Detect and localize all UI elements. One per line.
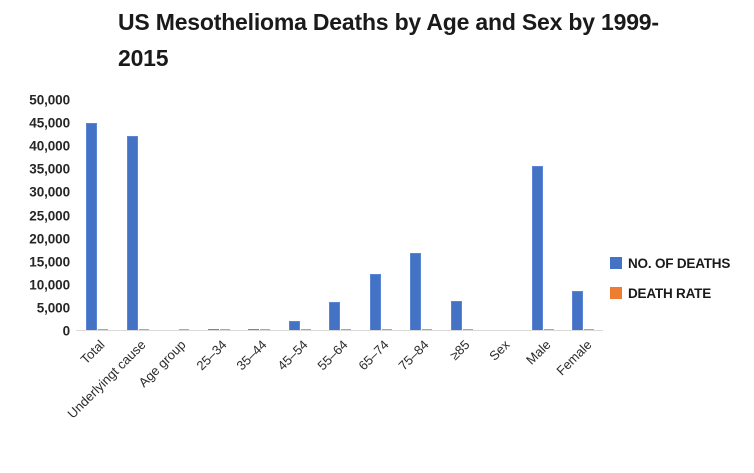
bar-group (117, 100, 158, 331)
x-axis-tick-text: 55–64 (315, 337, 351, 373)
bar-group (481, 100, 522, 331)
x-axis-labels: TotalUnderlyingt causeAge group25–3435–4… (76, 331, 603, 473)
y-axis-tick-label: 10,000 (0, 277, 70, 292)
bar-group (279, 100, 320, 331)
legend-item-label: NO. OF DEATHS (628, 256, 730, 271)
bar-no-of-deaths[interactable] (127, 136, 138, 331)
x-axis-tick-text: 45–54 (274, 337, 310, 373)
chart-container: US Mesothelioma Deaths by Age and Sex by… (0, 0, 754, 473)
y-axis-tick-label: 40,000 (0, 139, 70, 154)
x-axis-tick-label: Male (523, 337, 554, 368)
x-axis-tick-label: 65–74 (355, 337, 391, 373)
y-axis-tick-label: 25,000 (0, 208, 70, 223)
x-axis-tick-label: 35–44 (234, 337, 270, 373)
bar-no-of-deaths[interactable] (410, 253, 421, 331)
y-axis-tick-label: 15,000 (0, 254, 70, 269)
x-axis-tick-label: Female (553, 337, 594, 378)
bar-no-of-deaths[interactable] (329, 302, 340, 331)
legend-swatch-icon (610, 287, 622, 299)
x-axis-tick-label: Total (78, 337, 108, 367)
y-axis-tick-label: 30,000 (0, 185, 70, 200)
bar-no-of-deaths[interactable] (86, 123, 97, 331)
bar-group (441, 100, 482, 331)
bar-no-of-deaths[interactable] (370, 274, 381, 331)
bar-no-of-deaths[interactable] (532, 166, 543, 331)
x-axis-tick-text: 35–44 (234, 337, 270, 373)
y-axis-tick-label: 45,000 (0, 116, 70, 131)
x-axis-tick-text: Total (78, 337, 108, 367)
x-axis-tick-text: ≥85 (447, 337, 473, 363)
x-axis-tick-label: 25–34 (193, 337, 229, 373)
bar-group (522, 100, 563, 331)
bar-no-of-deaths[interactable] (451, 301, 462, 331)
y-axis-tick-label: 0 (0, 324, 70, 339)
bar-group (400, 100, 441, 331)
x-axis-tick-text: Female (553, 337, 594, 378)
bar-group (157, 100, 198, 331)
x-axis-tick-text: 25–34 (193, 337, 229, 373)
bar-no-of-deaths[interactable] (572, 291, 583, 331)
y-axis: 50,00045,00040,00035,00030,00025,00020,0… (0, 96, 70, 336)
x-axis-tick-label: Sex (487, 337, 513, 363)
bar-group (319, 100, 360, 331)
bar-group (562, 100, 603, 331)
x-axis-tick-label: 45–54 (274, 337, 310, 373)
y-axis-tick-label: 5,000 (0, 300, 70, 315)
y-axis-tick-label: 35,000 (0, 162, 70, 177)
y-axis-tick-label: 50,000 (0, 93, 70, 108)
bar-group (360, 100, 401, 331)
chart-title: US Mesothelioma Deaths by Age and Sex by… (118, 4, 698, 76)
y-axis-tick-label: 20,000 (0, 231, 70, 246)
bar-group (76, 100, 117, 331)
x-axis-tick-label: 75–84 (396, 337, 432, 373)
x-axis-tick-text: 75–84 (396, 337, 432, 373)
bar-group (198, 100, 239, 331)
legend-item[interactable]: DEATH RATE (610, 278, 754, 308)
x-axis-tick-text: 65–74 (355, 337, 391, 373)
x-axis-tick-label: 55–64 (315, 337, 351, 373)
plot-area (76, 100, 603, 331)
x-axis-tick-text: Sex (487, 337, 513, 363)
x-axis-tick-text: Male (523, 337, 554, 368)
legend-item-label: DEATH RATE (628, 286, 711, 301)
bar-group (238, 100, 279, 331)
legend-swatch-icon (610, 257, 622, 269)
legend-item[interactable]: NO. OF DEATHS (610, 248, 754, 278)
chart-legend: NO. OF DEATHSDEATH RATE (610, 248, 754, 308)
x-axis-tick-label: ≥85 (447, 337, 473, 363)
